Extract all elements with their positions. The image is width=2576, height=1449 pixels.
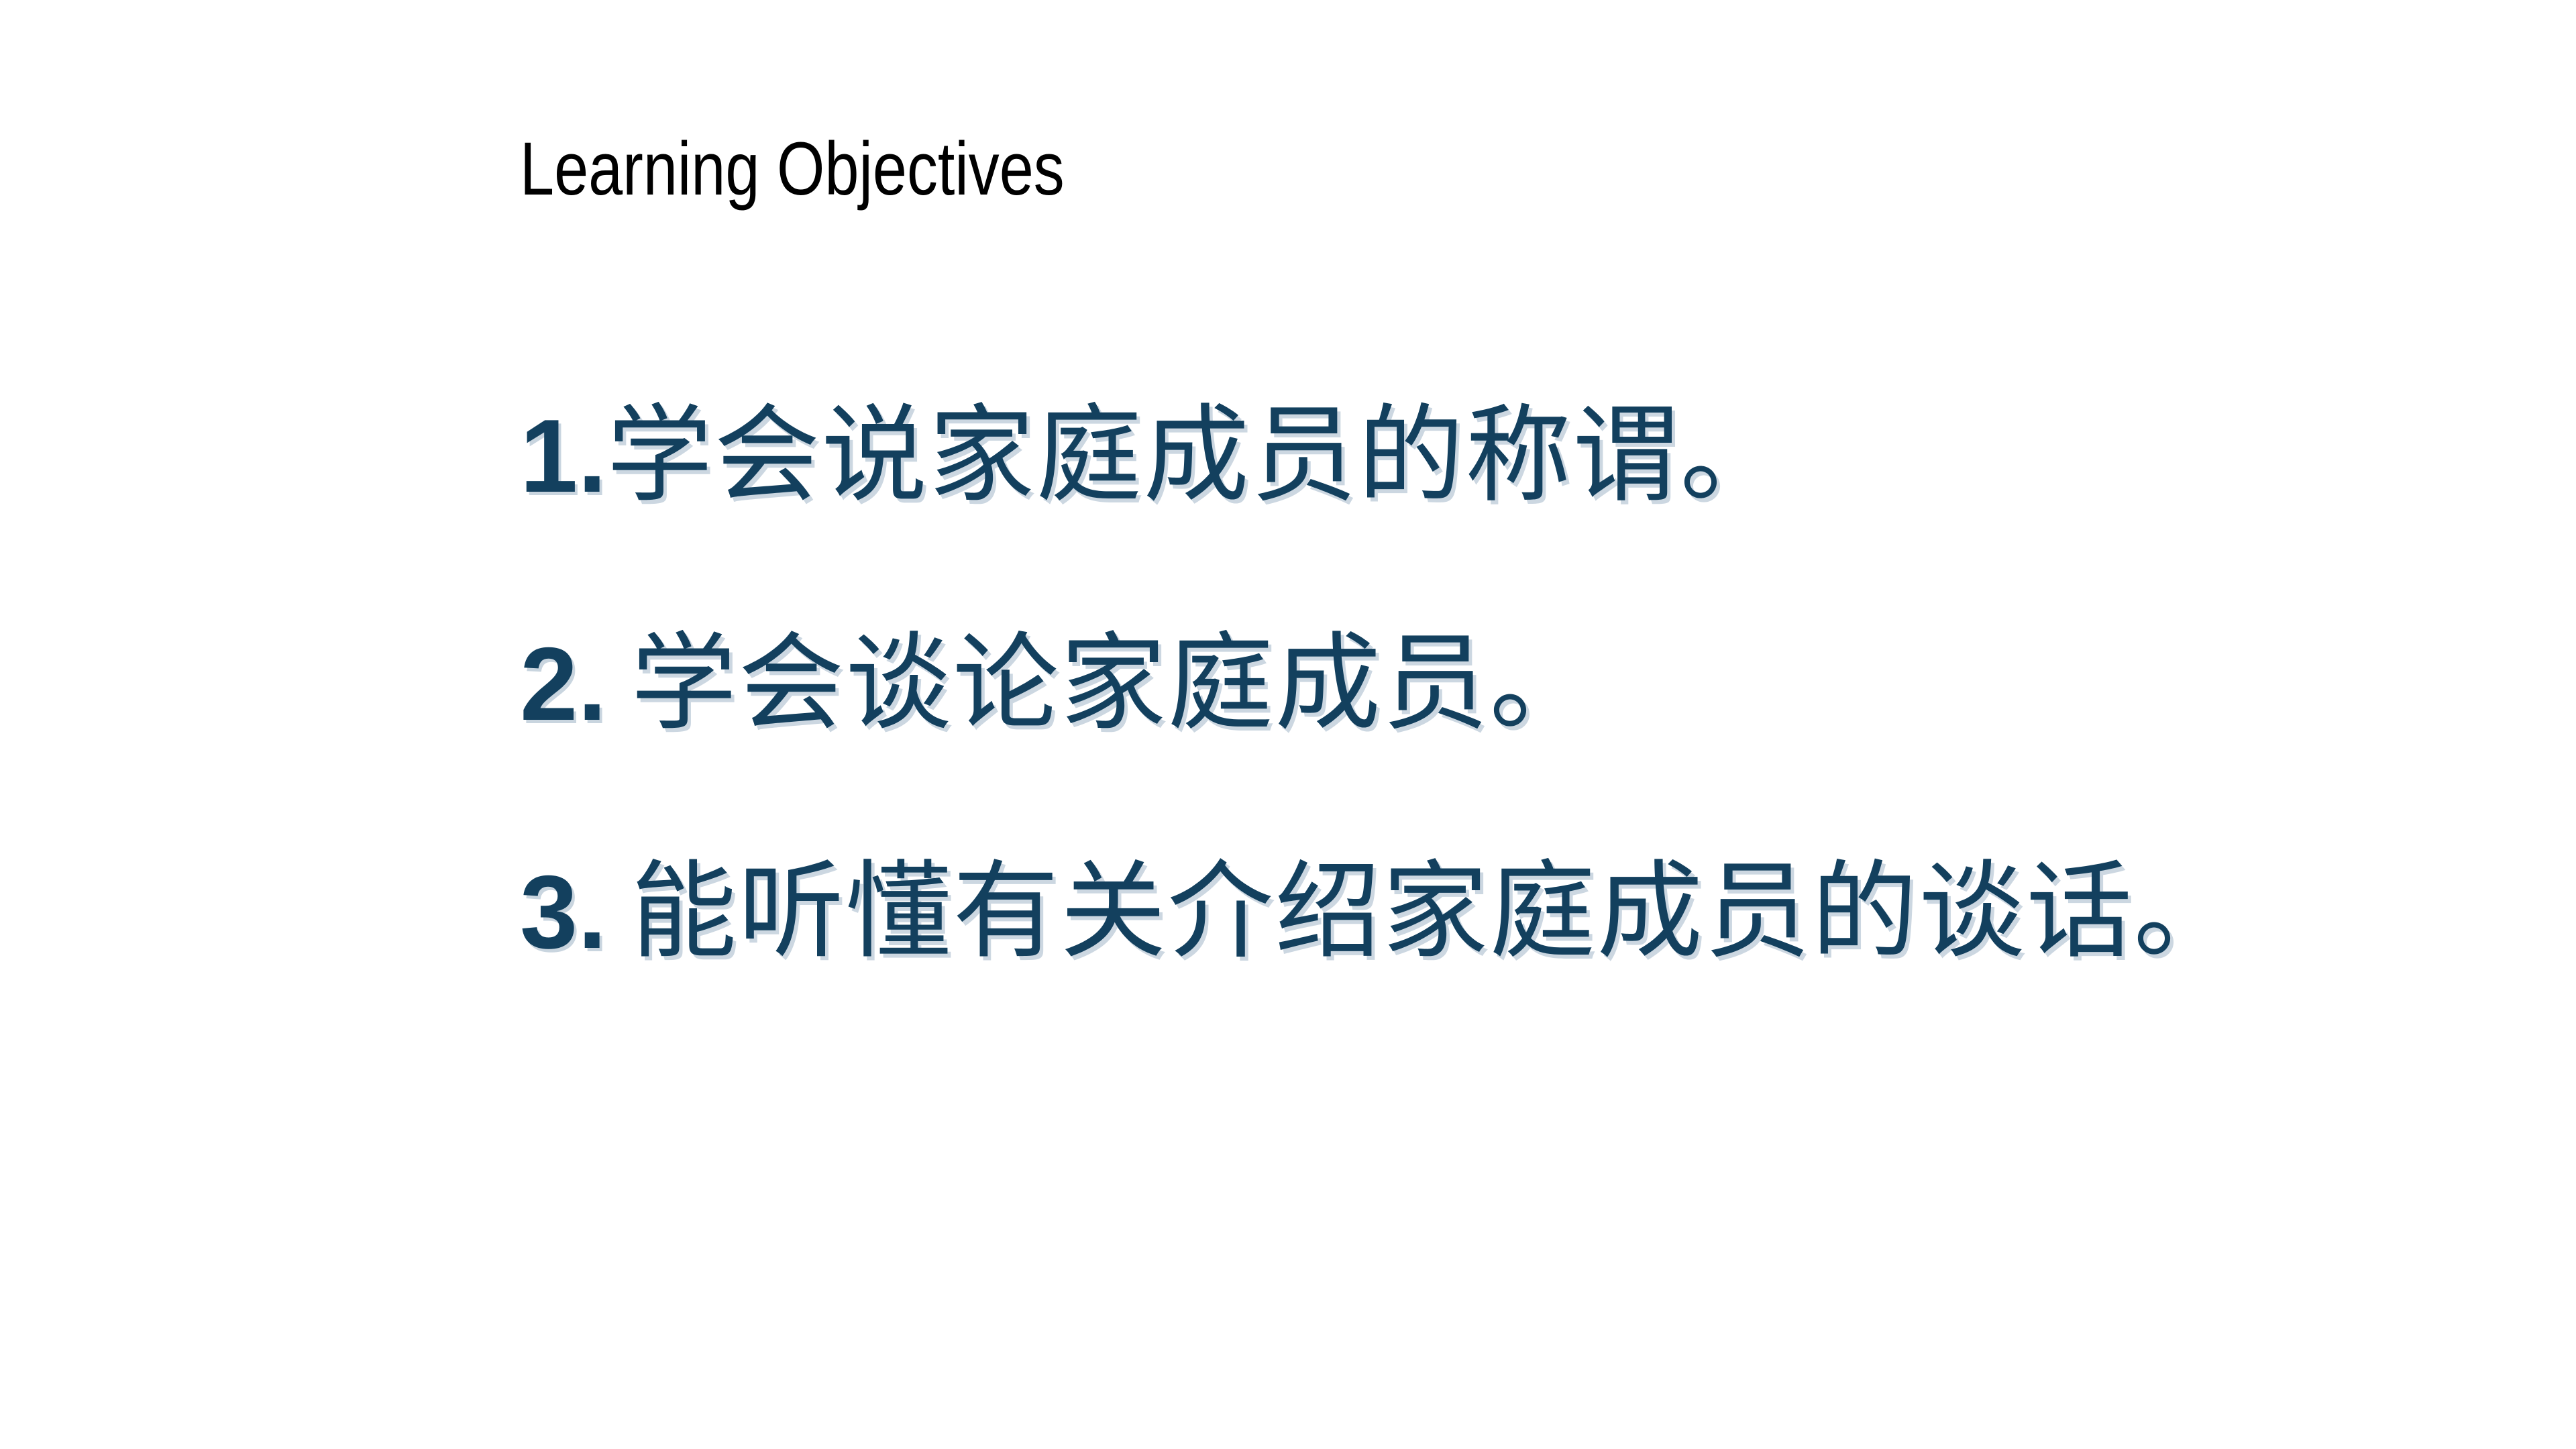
learning-objectives-list: 1. 学会说家庭成员的称谓。 2. 学会谈论家庭成员。 3. 能听懂有关介绍家庭… bbox=[520, 402, 2519, 1087]
objective-text: 学会说家庭成员的称谓。 bbox=[606, 402, 1787, 508]
presentation-slide: Learning Objectives 1. 学会说家庭成员的称谓。 2. 学会… bbox=[0, 0, 2576, 1449]
objective-number: 2. bbox=[520, 632, 606, 736]
list-item: 1. 学会说家庭成员的称谓。 bbox=[520, 402, 2519, 631]
objective-text: 能听懂有关介绍家庭成员的谈话。 bbox=[631, 859, 2241, 965]
objective-number: 3. bbox=[520, 860, 606, 964]
page-title: Learning Objectives bbox=[520, 131, 1950, 207]
objective-number: 1. bbox=[520, 404, 606, 508]
list-item: 2. 学会谈论家庭成员。 bbox=[520, 631, 2519, 859]
objective-text: 学会谈论家庭成员。 bbox=[631, 631, 1597, 737]
list-item: 3. 能听懂有关介绍家庭成员的谈话。 bbox=[520, 859, 2519, 1087]
slide-title-block: Learning Objectives bbox=[520, 131, 2264, 232]
